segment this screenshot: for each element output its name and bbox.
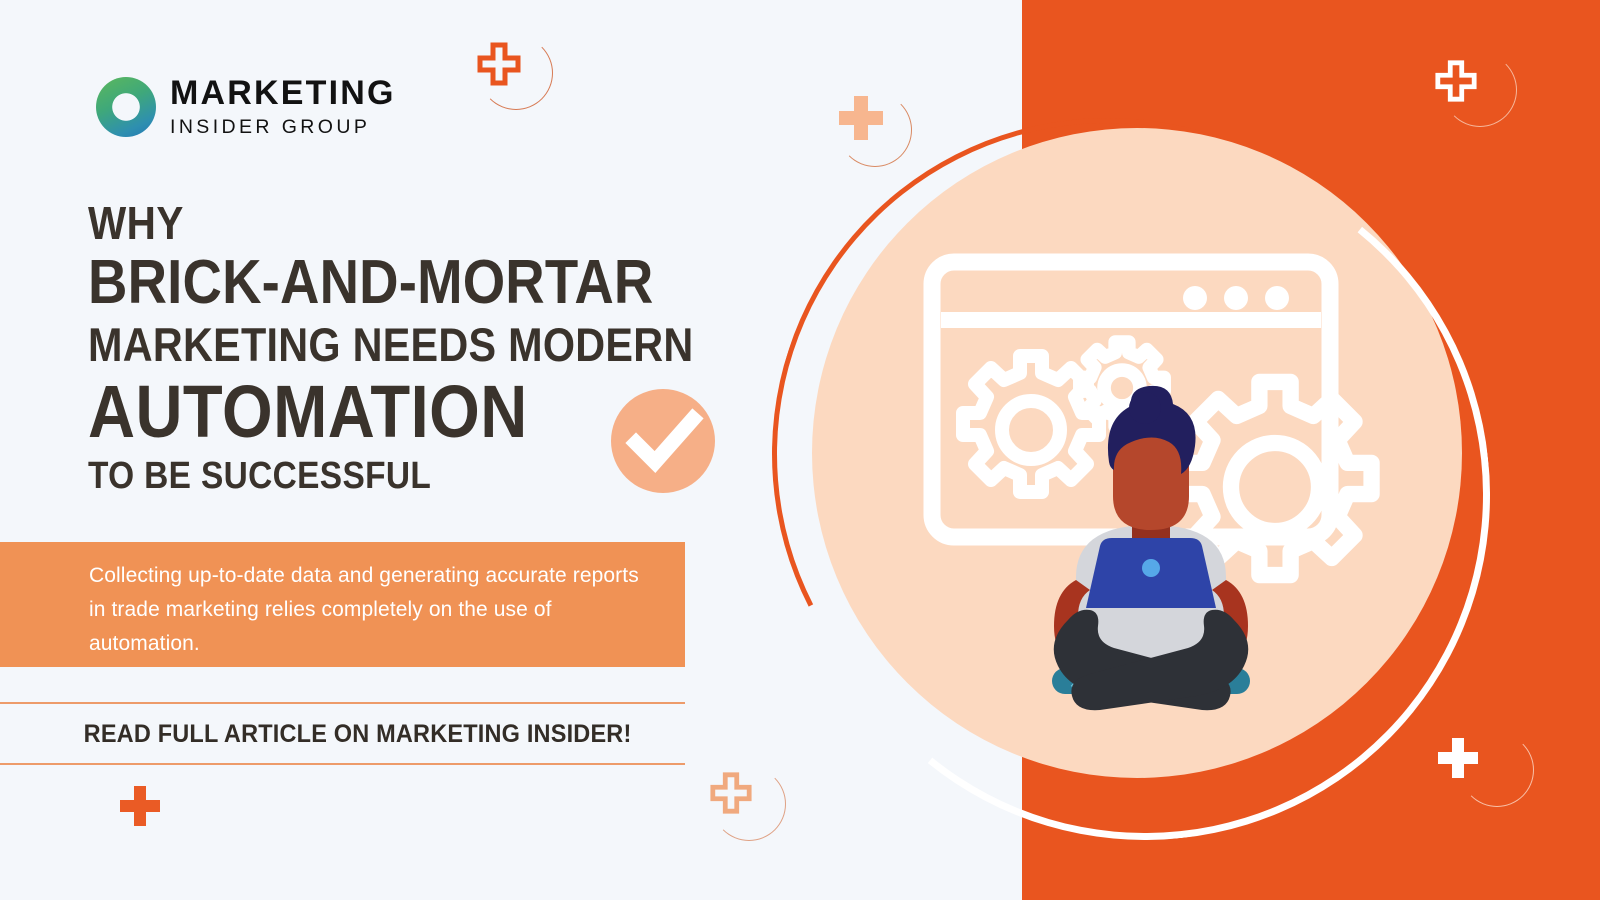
brand-name-primary: MARKETING (170, 76, 396, 110)
plus-solid-salmon-top-icon (839, 96, 883, 140)
window-dot-1 (1183, 286, 1207, 310)
plus-outline-white-top-right-icon (1434, 59, 1478, 103)
laptop-logo-dot (1142, 559, 1160, 577)
body-text-band: Collecting up-to-date data and generatin… (0, 542, 685, 667)
plus-outline-orange-top-icon (476, 41, 522, 87)
headline-line-5: TO BE SUCCESSFUL (88, 457, 651, 497)
plus-outline-salmon-bottom-icon (709, 771, 753, 815)
headline-line-1: WHY (88, 200, 651, 247)
window-dot-2 (1224, 286, 1248, 310)
body-paragraph: Collecting up-to-date data and generatin… (89, 559, 644, 661)
hair-bun (1129, 392, 1161, 424)
brand-logo-text: MARKETING INSIDER GROUP (170, 76, 396, 138)
cta-rule-bottom (0, 763, 685, 765)
plus-solid-orange-bottom-left-icon (120, 786, 160, 826)
checkmark-icon (611, 389, 715, 493)
poster-canvas: MARKETING INSIDER GROUP WHY BRICK-AND-MO… (0, 0, 1600, 900)
headline-line-2: BRICK-AND-MORTAR (88, 251, 651, 315)
headline-line-4: AUTOMATION (88, 374, 651, 451)
cta-block[interactable]: READ FULL ARTICLE ON MARKETING INSIDER! (0, 702, 685, 765)
plus-solid-white-bottom-right-icon (1438, 738, 1478, 778)
automation-illustration (900, 240, 1400, 710)
headline-line-3: MARKETING NEEDS MODERN (88, 321, 651, 370)
ring-gradient-icon (96, 77, 156, 137)
cta-label[interactable]: READ FULL ARTICLE ON MARKETING INSIDER! (0, 704, 644, 763)
window-dot-3 (1265, 286, 1289, 310)
brand-logo[interactable]: MARKETING INSIDER GROUP (96, 76, 396, 138)
brand-name-secondary: INSIDER GROUP (170, 118, 396, 138)
checkmark-badge (611, 389, 715, 493)
